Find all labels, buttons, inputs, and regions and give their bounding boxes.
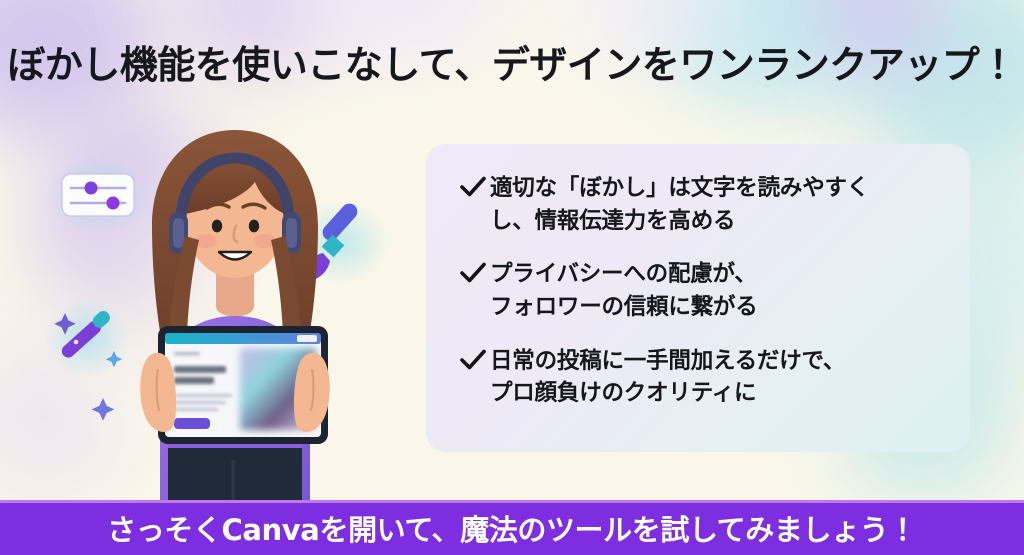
cta-banner: さっそくCanvaを開いて、魔法のツールを試してみましょう！ xyxy=(0,500,1024,555)
check-icon xyxy=(460,176,490,198)
check-icon xyxy=(460,262,490,284)
list-item-text: プライバシーへの配慮が、 フォロワーの信頼に繋がる xyxy=(490,258,758,323)
illustration-woman-with-tablet xyxy=(40,108,430,500)
cta-text: さっそくCanvaを開いて、魔法のツールを試してみましょう！ xyxy=(107,507,917,549)
slider-settings-icon xyxy=(46,157,150,233)
magic-wand-icon xyxy=(45,298,129,421)
list-item: プライバシーへの配慮が、 フォロワーの信頼に繋がる xyxy=(460,258,950,323)
list-item-line1: 適切な「ぼかし」は文字を読みやすく xyxy=(490,175,869,201)
list-item-line1: プライバシーへの配慮が、 xyxy=(490,261,757,287)
list-item-text: 日常の投稿に一手間加えるだけで、 プロ顔負けのクオリティに xyxy=(490,345,845,410)
list-item-line2: プロ顔負けのクオリティに xyxy=(490,377,845,410)
benefits-card: 適切な「ぼかし」は文字を読みやすく し、情報伝達力を高める プライバシーへの配慮… xyxy=(426,144,970,452)
list-item-line2: フォロワーの信頼に繋がる xyxy=(490,291,758,324)
check-icon xyxy=(460,349,490,371)
list-item-line1: 日常の投稿に一手間加えるだけで、 xyxy=(490,348,845,374)
list-item: 適切な「ぼかし」は文字を読みやすく し、情報伝達力を高める xyxy=(460,172,950,237)
list-item: 日常の投稿に一手間加えるだけで、 プロ顔負けのクオリティに xyxy=(460,345,950,410)
slide-canvas: ぼかし機能を使いこなして、デザインをワンランクアップ！ xyxy=(0,0,1024,555)
benefits-list: 適切な「ぼかし」は文字を読みやすく し、情報伝達力を高める プライバシーへの配慮… xyxy=(460,172,950,410)
list-item-text: 適切な「ぼかし」は文字を読みやすく し、情報伝達力を高める xyxy=(490,172,869,237)
list-item-line2: し、情報伝達力を高める xyxy=(490,205,869,238)
page-title: ぼかし機能を使いこなして、デザインをワンランクアップ！ xyxy=(0,34,1024,89)
